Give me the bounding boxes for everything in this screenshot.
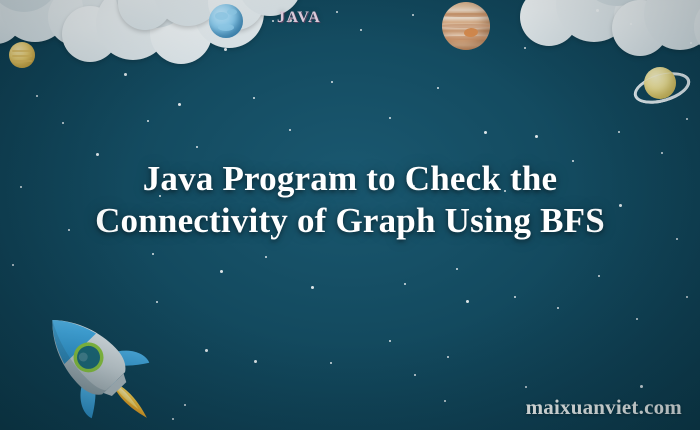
- rocket-icon: [26, 296, 158, 426]
- brand-label: JAVA: [277, 9, 321, 27]
- saturn-planet-icon: [632, 58, 688, 112]
- page-title-line-2: Connectivity of Graph Using BFS: [14, 200, 686, 242]
- page-title-line-1: Java Program to Check the: [14, 158, 686, 200]
- earth-planet-icon: [209, 4, 243, 38]
- jupiter-planet-icon: [442, 2, 490, 50]
- page-title: Java Program to Check the Connectivity o…: [0, 158, 700, 242]
- cloud-far-right: [612, 0, 700, 56]
- watermark-url: maixuanviet.com: [526, 395, 682, 420]
- small-yellow-planet-icon: [9, 42, 35, 68]
- poster-canvas: JAVA Java Program to Check the Connectiv…: [0, 0, 700, 430]
